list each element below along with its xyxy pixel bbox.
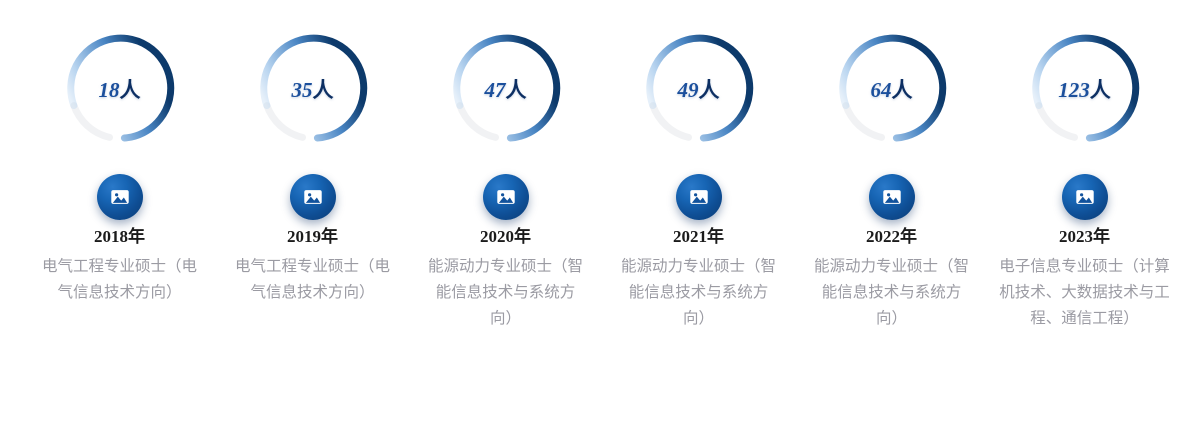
count-unit: 人 xyxy=(892,79,913,102)
year-label: 2019年 xyxy=(287,227,338,247)
description-label: 能源动力专业硕士（智能信息技术与系统方向） xyxy=(812,254,972,332)
stat-item-2019年[interactable]: 35人 2019年 电气工程专业硕士（电气信息技术方向） xyxy=(216,30,409,306)
year-label: 2018年 xyxy=(94,227,145,247)
count-number: 123 xyxy=(1058,78,1090,102)
progress-ring-wrapper: 123人 xyxy=(1020,30,1150,215)
count-number: 35 xyxy=(292,78,313,102)
count-label: 64人 xyxy=(827,79,957,102)
item-badge[interactable] xyxy=(1062,174,1108,220)
stat-item-2018年[interactable]: 18人 2018年 电气工程专业硕士（电气信息技术方向） xyxy=(23,30,216,306)
stat-item-2023年[interactable]: 123人 2023年 电子信息专业硕士（计算机技术、大数据技术与工程、通信工程） xyxy=(988,30,1181,332)
count-label: 49人 xyxy=(634,79,764,102)
image-placeholder-icon xyxy=(881,186,903,208)
stat-item-2021年[interactable]: 49人 2021年 能源动力专业硕士（智能信息技术与系统方向） xyxy=(602,30,795,332)
description-label: 电气工程专业硕士（电气信息技术方向） xyxy=(233,254,393,306)
count-unit: 人 xyxy=(1090,79,1111,102)
image-placeholder-icon xyxy=(302,186,324,208)
progress-ring-wrapper: 64人 xyxy=(827,30,957,215)
count-number: 49 xyxy=(678,78,699,102)
item-badge[interactable] xyxy=(869,174,915,220)
count-label: 35人 xyxy=(248,79,378,102)
count-number: 18 xyxy=(99,78,120,102)
item-badge[interactable] xyxy=(97,174,143,220)
count-number: 47 xyxy=(485,78,506,102)
image-placeholder-icon xyxy=(688,186,710,208)
progress-ring-wrapper: 47人 xyxy=(441,30,571,215)
count-label: 123人 xyxy=(1020,79,1150,102)
year-label: 2020年 xyxy=(480,227,531,247)
description-label: 电气工程专业硕士（电气信息技术方向） xyxy=(40,254,200,306)
progress-ring-wrapper: 35人 xyxy=(248,30,378,215)
stat-item-2020年[interactable]: 47人 2020年 能源动力专业硕士（智能信息技术与系统方向） xyxy=(409,30,602,332)
year-label: 2022年 xyxy=(866,227,917,247)
description-label: 能源动力专业硕士（智能信息技术与系统方向） xyxy=(426,254,586,332)
count-label: 18人 xyxy=(55,79,185,102)
image-placeholder-icon xyxy=(109,186,131,208)
count-unit: 人 xyxy=(313,79,334,102)
count-number: 64 xyxy=(871,78,892,102)
progress-ring-wrapper: 49人 xyxy=(634,30,764,215)
year-label: 2023年 xyxy=(1059,227,1110,247)
count-label: 47人 xyxy=(441,79,571,102)
item-badge[interactable] xyxy=(483,174,529,220)
count-unit: 人 xyxy=(120,79,141,102)
count-unit: 人 xyxy=(506,79,527,102)
description-label: 电子信息专业硕士（计算机技术、大数据技术与工程、通信工程） xyxy=(994,254,1176,332)
description-label: 能源动力专业硕士（智能信息技术与系统方向） xyxy=(619,254,779,332)
item-badge[interactable] xyxy=(676,174,722,220)
stat-item-2022年[interactable]: 64人 2022年 能源动力专业硕士（智能信息技术与系统方向） xyxy=(795,30,988,332)
image-placeholder-icon xyxy=(495,186,517,208)
count-unit: 人 xyxy=(699,79,720,102)
progress-ring-wrapper: 18人 xyxy=(55,30,185,215)
year-label: 2021年 xyxy=(673,227,724,247)
stats-items-row: 18人 2018年 电气工程专业硕士（电气信息技术方向） xyxy=(0,0,1204,332)
item-badge[interactable] xyxy=(290,174,336,220)
stats-timeline: 18人 2018年 电气工程专业硕士（电气信息技术方向） xyxy=(0,0,1204,421)
image-placeholder-icon xyxy=(1074,186,1096,208)
